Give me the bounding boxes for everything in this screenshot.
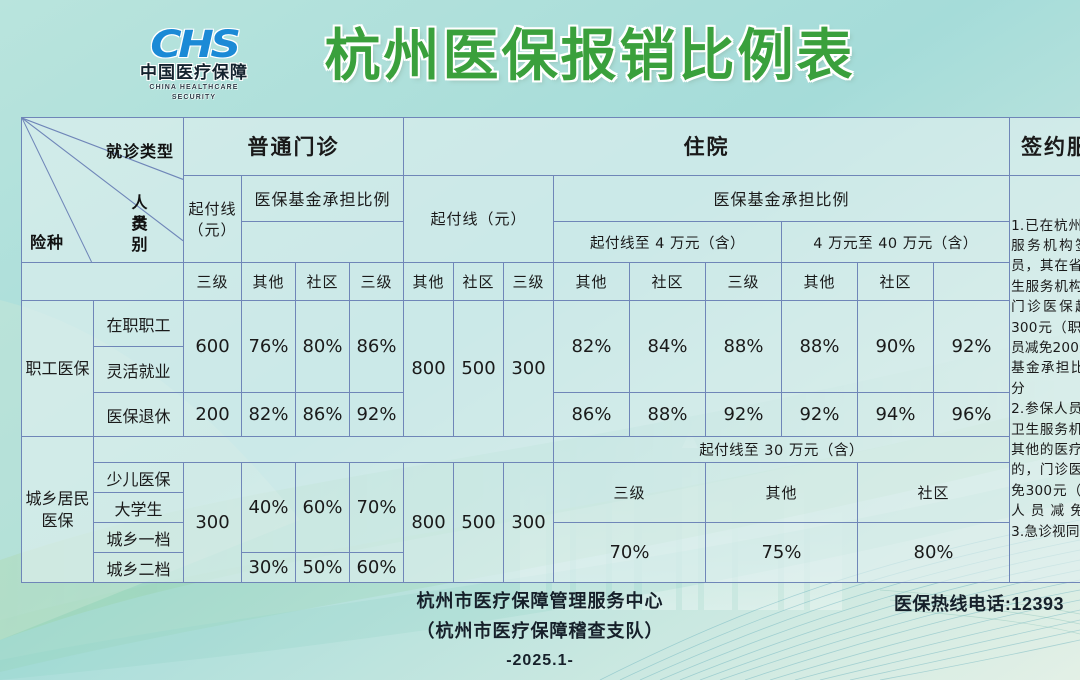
cell-emp-in-deduct-other: 500	[454, 301, 504, 437]
cell-res-outpatient-deductible: 300	[184, 463, 242, 583]
level-outpatient-community: 社区	[296, 263, 350, 301]
logo-en-name: CHINA HEALTHCARE SECURITY	[131, 83, 257, 103]
note-item-1: 1.已在杭州市内社区卫生服务机构签约的参保人员，其在省内所有社区卫生服务机构门诊…	[1011, 216, 1080, 400]
footer-org-line-2: （杭州市医疗保障稽查支队）	[240, 616, 840, 646]
cell-ret-out-tertiary: 82%	[242, 393, 296, 437]
resident-band-spacer	[94, 437, 554, 463]
inpatient-range-2-header: 4 万元至 40 万元（含）	[782, 222, 1010, 263]
logo-mark: CHS	[122, 27, 267, 63]
inpatient-deductible-header: 起付线（元）	[404, 175, 554, 262]
corner-header-cell: 就诊类型 人员类别 险种	[22, 118, 184, 263]
cell-ret-out-community: 92%	[350, 393, 404, 437]
footer-hotline: 医保热线电话:12393	[894, 590, 1064, 616]
cell-emp-out-tertiary: 76%	[242, 301, 296, 393]
level-range2-tertiary: 三级	[706, 263, 782, 301]
person-retired: 医保退休	[94, 393, 184, 437]
table-row: 少儿医保 300 40% 60% 70% 800 500 300 三级 其他 社…	[22, 463, 1080, 493]
level-range1-tertiary: 三级	[504, 263, 554, 301]
cell-emp-out-other: 80%	[296, 301, 350, 393]
group-header-inpatient: 住院	[404, 118, 1010, 176]
cell-emp-r1-tertiary: 82%	[554, 301, 630, 393]
cell-ret-outpatient-deductible: 200	[184, 393, 242, 437]
note-item-3: 3.急诊视同转诊。	[1011, 522, 1080, 542]
outpatient-fund-ratio-header: 医保基金承担比例	[242, 175, 404, 221]
note-item-2: 2.参保人员经签约的社区卫生服务机构转诊至本市其他的医疗机构继续治疗的，门诊医保…	[1011, 399, 1080, 521]
levels-spacer-left	[22, 263, 184, 301]
chs-logo: CHS 中国医疗保障 CHINA HEALTHCARE SECURITY	[131, 27, 257, 99]
reimbursement-table: 就诊类型 人员类别 险种 普通门诊 住院 签约服务待遇 起付线（元） 医保基金承…	[21, 117, 1080, 583]
outpatient-ratio-spacer	[242, 222, 404, 263]
cell-emp-out-community: 86%	[350, 301, 404, 393]
cell-res-out-tertiary: 40%	[242, 463, 296, 553]
inpatient-fund-ratio-header: 医保基金承担比例	[554, 175, 1010, 221]
resident-range-header: 起付线至 30 万元（含）	[554, 437, 1010, 463]
footer-org-line-1: 杭州市医疗保障管理服务中心	[240, 586, 840, 616]
insurance-employee-label: 职工医保	[22, 301, 94, 437]
level-range2-other: 其他	[782, 263, 858, 301]
inpatient-range-1-header: 起付线至 4 万元（含）	[554, 222, 782, 263]
resident-level-community: 社区	[858, 463, 1010, 523]
resident-range-header-row: 城乡居民医保 起付线至 30 万元（含）	[22, 437, 1080, 463]
person-active-employee: 在职职工	[94, 301, 184, 347]
table-header-row-1: 就诊类型 人员类别 险种 普通门诊 住院 签约服务待遇	[22, 118, 1080, 176]
cell-emp-in-deduct-tertiary: 800	[404, 301, 454, 437]
contract-service-notes: 1.已在杭州市内社区卫生服务机构签约的参保人员，其在省内所有社区卫生服务机构门诊…	[1010, 175, 1080, 582]
footer-organization: 杭州市医疗保障管理服务中心 （杭州市医疗保障稽查支队） -2025.1-	[240, 586, 840, 676]
level-inpatient-deductible-tertiary: 三级	[350, 263, 404, 301]
corner-person-category-label: 人员类别	[98, 192, 154, 213]
level-range1-community: 社区	[630, 263, 706, 301]
resident-level-other: 其他	[706, 463, 858, 523]
page-footer: 杭州市医疗保障管理服务中心 （杭州市医疗保障稽查支队） -2025.1- 医保热…	[0, 586, 1080, 680]
cell-emp-r1-community: 88%	[706, 301, 782, 393]
cell-res-in-deduct-tertiary: 800	[404, 463, 454, 583]
cell-ret-r2-community: 96%	[934, 393, 1010, 437]
level-outpatient-tertiary: 三级	[184, 263, 242, 301]
cell-res-in-community: 80%	[858, 523, 1010, 583]
page-title: 杭州医保报销比例表	[280, 24, 900, 90]
level-range2-community: 社区	[858, 263, 934, 301]
corner-visit-type-label: 就诊类型	[106, 138, 174, 162]
outpatient-deductible-header: 起付线（元）	[184, 175, 242, 262]
cell-res-out-other: 60%	[296, 463, 350, 553]
cell-res2-out-community: 60%	[350, 553, 404, 583]
cell-ret-r1-community: 92%	[706, 393, 782, 437]
level-outpatient-other: 其他	[242, 263, 296, 301]
cell-res-in-deduct-community: 300	[504, 463, 554, 583]
reimbursement-table-container: 就诊类型 人员类别 险种 普通门诊 住院 签约服务待遇 起付线（元） 医保基金承…	[21, 117, 1060, 583]
cell-ret-r1-tertiary: 86%	[554, 393, 630, 437]
page-header: CHS 中国医疗保障 CHINA HEALTHCARE SECURITY 杭州医…	[0, 0, 1080, 108]
cell-res-in-tertiary: 70%	[554, 523, 706, 583]
group-header-outpatient: 普通门诊	[184, 118, 404, 176]
table-header-row-levels: 三级 其他 社区 三级 其他 社区 三级 其他 社区 三级 其他 社区	[22, 263, 1080, 301]
person-resident-tier-1: 城乡一档	[94, 523, 184, 553]
person-university-student: 大学生	[94, 493, 184, 523]
cell-res-in-deduct-other: 500	[454, 463, 504, 583]
cell-ret-r2-other: 94%	[858, 393, 934, 437]
cell-emp-r2-community: 92%	[934, 301, 1010, 393]
insurance-resident-label: 城乡居民医保	[22, 437, 94, 583]
cell-ret-out-other: 86%	[296, 393, 350, 437]
cell-res-in-other: 75%	[706, 523, 858, 583]
cell-emp-r2-tertiary: 88%	[782, 301, 858, 393]
logo-cn-name: 中国医疗保障	[131, 63, 257, 83]
person-resident-tier-2: 城乡二档	[94, 553, 184, 583]
cell-res2-out-tertiary: 30%	[242, 553, 296, 583]
cell-emp-r1-other: 84%	[630, 301, 706, 393]
cell-ret-r1-other: 88%	[630, 393, 706, 437]
level-inpatient-deductible-other: 其他	[404, 263, 454, 301]
cell-res2-out-other: 50%	[296, 553, 350, 583]
table-row: 职工医保 在职职工 600 76% 80% 86% 800 500 300 82…	[22, 301, 1080, 347]
footer-date: -2025.1-	[240, 646, 840, 676]
cell-emp-outpatient-deductible: 600	[184, 301, 242, 393]
cell-ret-r2-tertiary: 92%	[782, 393, 858, 437]
person-child-insurance: 少儿医保	[94, 463, 184, 493]
resident-level-tertiary: 三级	[554, 463, 706, 523]
cell-res-out-community: 70%	[350, 463, 404, 553]
group-header-contract: 签约服务待遇	[1010, 118, 1080, 176]
level-inpatient-deductible-community: 社区	[454, 263, 504, 301]
person-flexible-employment: 灵活就业	[94, 347, 184, 393]
cell-emp-r2-other: 90%	[858, 301, 934, 393]
level-range1-other: 其他	[554, 263, 630, 301]
corner-insurance-type-label: 险种	[30, 229, 64, 253]
cell-emp-in-deduct-community: 300	[504, 301, 554, 437]
